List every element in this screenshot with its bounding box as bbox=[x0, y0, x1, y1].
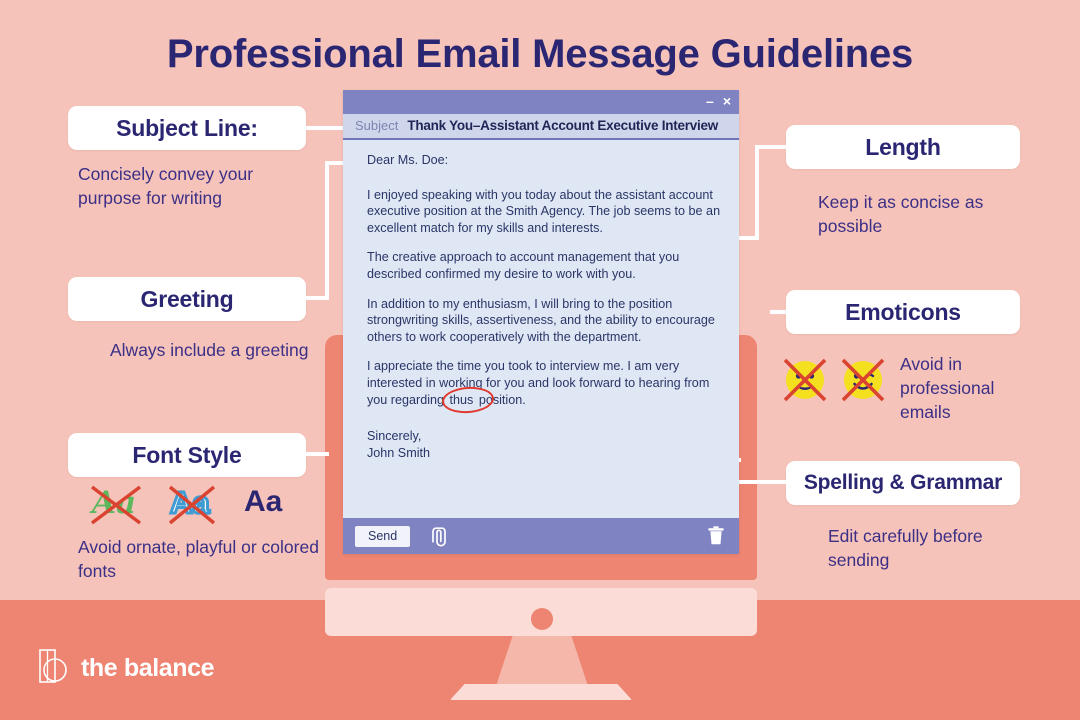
connector-subject-line bbox=[305, 126, 347, 130]
email-window-titlebar: – × bbox=[343, 90, 739, 114]
signoff-closing: Sincerely, bbox=[367, 429, 421, 443]
brand-logo-text: the balance bbox=[81, 654, 214, 683]
email-toolbar: Send bbox=[343, 518, 739, 554]
callout-emoticons-description: Avoid in professional emails bbox=[900, 352, 1040, 424]
callout-greeting-title[interactable]: Greeting bbox=[68, 277, 306, 321]
trash-icon[interactable] bbox=[707, 526, 725, 546]
window-controls: – × bbox=[706, 92, 731, 110]
signoff-name: John Smith bbox=[367, 446, 430, 460]
email-greeting-line: Dear Ms. Doe: bbox=[367, 152, 725, 169]
connector-length-seg2 bbox=[755, 145, 759, 240]
minimize-icon[interactable]: – bbox=[706, 92, 714, 110]
close-icon[interactable]: × bbox=[723, 92, 731, 110]
callout-spelling-grammar-title[interactable]: Spelling & Grammar bbox=[786, 461, 1020, 505]
font-sample-plain-navy: Aa bbox=[244, 485, 282, 519]
b-monogram-icon bbox=[38, 648, 72, 689]
cross-out-icon-outline bbox=[164, 483, 226, 527]
brand-logo: the balance bbox=[38, 648, 214, 689]
email-compose-window: – × Subject Thank You–Assistant Account … bbox=[343, 90, 739, 554]
email-paragraph-2: The creative approach to account managem… bbox=[367, 249, 725, 282]
cross-out-icon-script bbox=[86, 483, 148, 527]
callout-greeting-description: Always include a greeting bbox=[110, 338, 320, 362]
subject-input[interactable]: Thank You–Assistant Account Executive In… bbox=[407, 118, 718, 133]
send-button[interactable]: Send bbox=[355, 526, 410, 547]
email-signoff: Sincerely,John Smith bbox=[367, 428, 725, 461]
callout-font-style-description: Avoid ornate, playful or colored fonts bbox=[78, 535, 328, 583]
callout-subject-line-title[interactable]: Subject Line: bbox=[68, 106, 306, 150]
email-body-text[interactable]: Dear Ms. Doe: I enjoyed speaking with yo… bbox=[343, 140, 739, 508]
connector-greeting-seg2 bbox=[325, 161, 329, 300]
subject-field-row[interactable]: Subject Thank You–Assistant Account Exec… bbox=[343, 114, 739, 140]
paragraph-4-before: I appreciate the time you took to interv… bbox=[367, 359, 709, 406]
email-paragraph-1: I enjoyed speaking with you today about … bbox=[367, 187, 725, 237]
font-style-samples: Aa Aa Aa bbox=[92, 483, 312, 527]
paperclip-icon[interactable] bbox=[428, 525, 450, 547]
connector-length-seg1 bbox=[755, 145, 787, 149]
callout-subject-line-description: Concisely convey your purpose for writin… bbox=[78, 162, 316, 210]
callout-emoticons-title[interactable]: Emoticons bbox=[786, 290, 1020, 334]
monitor-stand-base bbox=[450, 684, 632, 700]
callout-font-style-title[interactable]: Font Style bbox=[68, 433, 306, 477]
paragraph-4-after: position. bbox=[475, 393, 525, 407]
monitor-power-indicator bbox=[531, 608, 553, 630]
callout-spelling-grammar-description: Edit carefully before sending bbox=[828, 524, 1048, 572]
callout-length-description: Keep it as concise as possible bbox=[818, 190, 1028, 238]
smiley-face-icon bbox=[782, 357, 828, 403]
winking-face-icon bbox=[840, 357, 886, 403]
spelling-error-highlight: thus bbox=[448, 392, 476, 409]
callout-length-title[interactable]: Length bbox=[786, 125, 1020, 169]
email-paragraph-3: In addition to my enthusiasm, I will bri… bbox=[367, 296, 725, 346]
paragraph-4-typo-word: thus bbox=[450, 393, 474, 407]
connector-font-style-seg1 bbox=[305, 452, 329, 456]
emoticon-samples bbox=[782, 357, 886, 403]
subject-label: Subject bbox=[355, 118, 398, 133]
infographic-canvas: Professional Email Message Guidelines – … bbox=[0, 0, 1080, 720]
page-title: Professional Email Message Guidelines bbox=[0, 32, 1080, 77]
email-paragraph-4: I appreciate the time you took to interv… bbox=[367, 358, 725, 408]
